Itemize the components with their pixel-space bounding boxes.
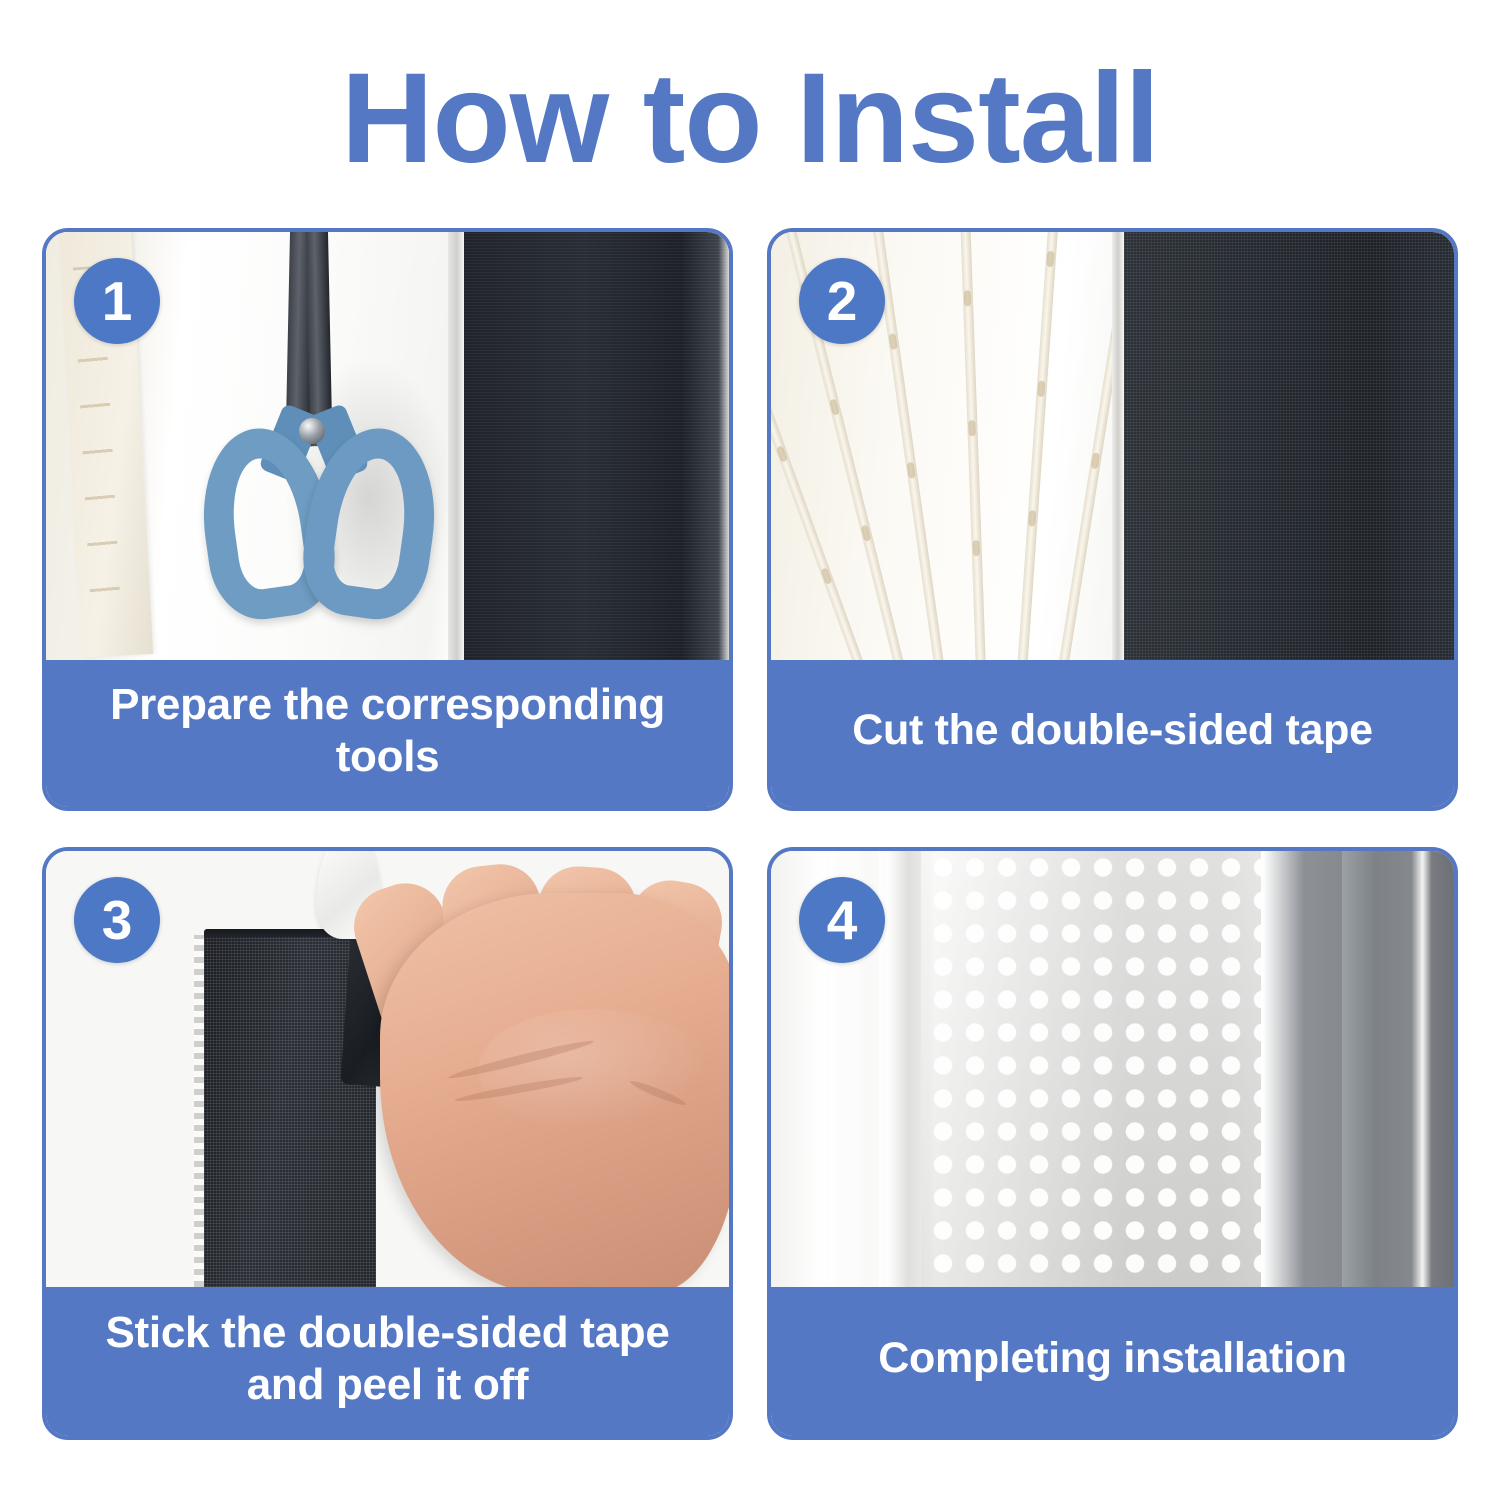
step-caption-2: Cut the double-sided tape [771,660,1454,807]
step-photo-2: 2 [771,232,1454,660]
page-title: How to Install [0,52,1500,186]
mesh-panel-illustration [464,232,729,660]
step-photo-4: 4 [771,851,1454,1287]
step-caption-4: Completing installation [771,1287,1454,1436]
step-caption-text-2: Cut the double-sided tape [852,705,1372,756]
hand-illustration [328,859,729,1287]
installed-mesh-illustration [921,851,1261,1287]
steps-grid: 1 Prepare the corresponding tools [42,228,1458,1440]
step-card-1: 1 Prepare the corresponding tools [42,228,733,811]
step-photo-1: 1 [46,232,729,660]
step-card-3: 3 Stick the double-sided tape and peel i… [42,847,733,1440]
step-caption-text-4: Completing installation [878,1333,1347,1384]
mesh-panel-illustration [1124,232,1454,660]
step-caption-text-3: Stick the double-sided tape and peel it … [64,1307,711,1411]
step-card-4: 4 Completing installation [767,847,1458,1440]
step-card-2: 2 Cut the double-sided tape [767,228,1458,811]
step-caption-3: Stick the double-sided tape and peel it … [46,1287,729,1436]
infographic-page: How to Install 1 [0,0,1500,1500]
step-caption-1: Prepare the corresponding tools [46,660,729,807]
step-number-badge-2: 2 [799,258,885,344]
step-caption-text-1: Prepare the corresponding tools [64,679,711,783]
step-photo-3: 3 [46,851,729,1287]
step-number-badge-3: 3 [74,877,160,963]
step-number-badge-1: 1 [74,258,160,344]
scissors-pivot-illustration [299,418,325,444]
step-number-badge-4: 4 [799,877,885,963]
